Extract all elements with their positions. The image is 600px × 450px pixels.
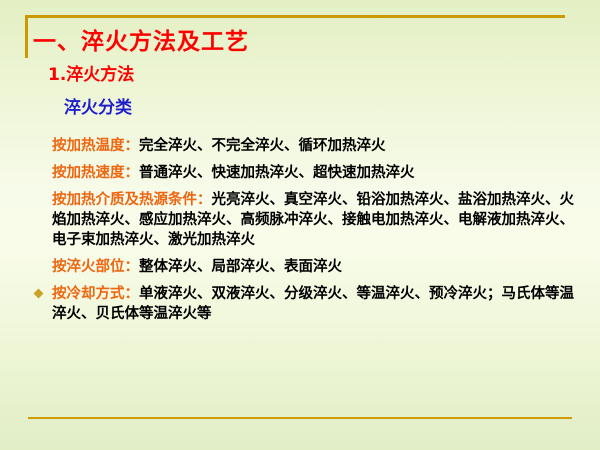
- list-item-text: 整体淬火、局部淬火、表面淬火: [139, 259, 342, 275]
- page-title: 一、淬火方法及工艺: [33, 22, 249, 56]
- list-item: 按加热介质及热源条件：光亮淬火、真空淬火、铅浴加热淬火、盐浴加热淬火、火焰加热淬…: [30, 190, 582, 250]
- list-item-label: 按加热温度：: [52, 138, 139, 154]
- list-item: 按加热速度：普通淬火、快速加热淬火、超快速加热淬火: [30, 163, 586, 183]
- list-item-label: 按冷却方式：: [52, 286, 139, 302]
- list-item: 按淬火部位：整体淬火、局部淬火、表面淬火: [30, 257, 586, 277]
- list-item-label: 按加热介质及热源条件：: [52, 192, 212, 208]
- left-gold-rule: [25, 15, 28, 58]
- diamond-bullet-icon: [34, 289, 44, 299]
- classification-heading: 淬火分类: [64, 93, 132, 118]
- top-gold-rule: [25, 15, 565, 18]
- list-item: 按加热温度：完全淬火、不完全淬火、循环加热淬火: [30, 136, 586, 156]
- list-item-label: 按加热速度：: [52, 165, 139, 181]
- list-item-text: 完全淬火、不完全淬火、循环加热淬火: [139, 138, 386, 154]
- classification-list: 按加热温度：完全淬火、不完全淬火、循环加热淬火 按加热速度：普通淬火、快速加热淬…: [30, 136, 586, 331]
- list-item-label: 按淬火部位：: [52, 259, 139, 275]
- bottom-gold-rule: [28, 417, 572, 419]
- list-item: 按冷却方式：单液淬火、双液淬火、分级淬火、等温淬火、预冷淬火；马氏体等温淬火、贝…: [30, 284, 582, 324]
- slide-canvas: 一、淬火方法及工艺 1.淬火方法 淬火分类 按加热温度：完全淬火、不完全淬火、循…: [0, 0, 600, 450]
- list-item-text: 普通淬火、快速加热淬火、超快速加热淬火: [139, 165, 415, 181]
- section-subtitle: 1.淬火方法: [48, 60, 134, 85]
